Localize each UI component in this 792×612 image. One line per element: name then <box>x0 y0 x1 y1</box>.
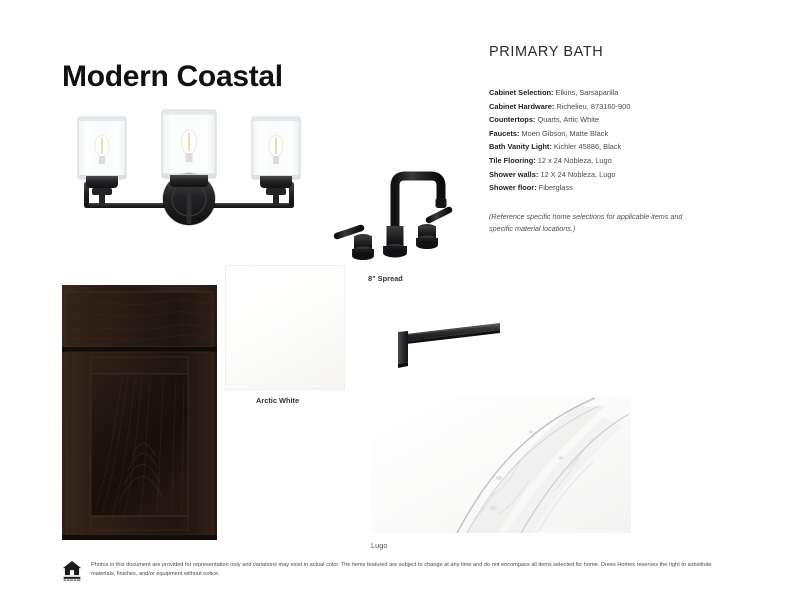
marble-tile-icon <box>371 396 631 533</box>
spec-value: Elkins, Sarsaparilla <box>553 88 618 97</box>
faucet-icon <box>325 158 460 273</box>
spec-row-bath-vanity-light: Bath Vanity Light: Kichler 45886, Black <box>489 140 739 154</box>
cabinet-door-image <box>62 285 217 540</box>
selection-board-page: Modern Coastal PRIMARY BATH Cabinet Sele… <box>0 0 792 612</box>
spec-value: 12 X 24 Nobleza, Lugo <box>538 170 615 179</box>
footer-disclaimer: Photos in this document are provided for… <box>91 559 732 578</box>
spec-row-countertops: Countertops: Quarts, Artic White <box>489 113 739 127</box>
spec-list: Cabinet Selection: Elkins, Sarsaparilla … <box>489 86 739 195</box>
spec-row-cabinet-hardware: Cabinet Hardware: Richelieu, 873160-900 <box>489 100 739 114</box>
page-title: Modern Coastal <box>62 60 283 94</box>
spec-value: 12 x 24 Nobleza, Lugo <box>536 156 612 165</box>
spec-row-faucets: Faucets: Moen Gibson, Matte Black <box>489 127 739 141</box>
equal-housing-opportunity-icon <box>62 559 82 583</box>
spec-panel: PRIMARY BATH Cabinet Selection: Elkins, … <box>489 44 739 235</box>
countertop-caption: Arctic White <box>256 396 299 405</box>
spec-label: Shower walls: <box>489 170 538 179</box>
vanity-light-icon <box>58 104 320 239</box>
spec-value: Quarts, Artic White <box>535 115 599 124</box>
spec-label: Cabinet Hardware: <box>489 102 554 111</box>
spec-row-tile-flooring: Tile Flooring: 12 x 24 Nobleza, Lugo <box>489 154 739 168</box>
footer: Photos in this document are provided for… <box>62 559 732 583</box>
spec-value: Richelieu, 873160-900 <box>554 102 630 111</box>
cabinet-door-icon <box>62 285 217 540</box>
spec-note: (Reference specific home selections for … <box>489 211 707 235</box>
spec-label: Faucets: <box>489 129 519 138</box>
spec-label: Countertops: <box>489 115 535 124</box>
tile-caption: Lugo <box>371 541 387 550</box>
cabinet-pull-image <box>388 318 503 373</box>
spec-label: Cabinet Selection: <box>489 88 553 97</box>
cabinet-pull-icon <box>388 318 503 373</box>
spec-value: Kichler 45886, Black <box>552 142 621 151</box>
faucet-caption: 8" Spread <box>368 274 403 283</box>
countertop-swatch-image <box>225 265 345 390</box>
spec-row-cabinet-selection: Cabinet Selection: Elkins, Sarsaparilla <box>489 86 739 100</box>
bath-vanity-light-image <box>58 104 320 239</box>
spec-label: Bath Vanity Light: <box>489 142 552 151</box>
faucet-image <box>325 158 460 273</box>
spec-value: Moen Gibson, Matte Black <box>519 129 608 138</box>
spec-label: Tile Flooring: <box>489 156 536 165</box>
tile-sample-image <box>371 396 631 533</box>
spec-row-shower-walls: Shower walls: 12 X 24 Nobleza, Lugo <box>489 168 739 182</box>
spec-heading: PRIMARY BATH <box>489 44 739 60</box>
spec-row-shower-floor: Shower floor: Fiberglass <box>489 181 739 195</box>
spec-label: Shower floor: <box>489 183 537 192</box>
spec-value: Fiberglass <box>537 183 573 192</box>
